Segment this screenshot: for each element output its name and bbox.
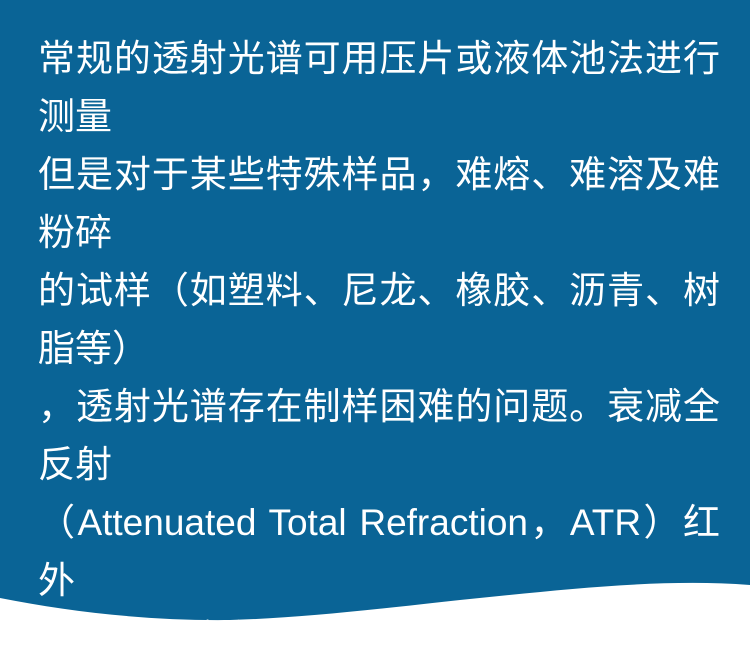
info-banner: 常规的透射光谱可用压片或液体池法进行测量 但是对于某些特殊样品，难熔、难溶及难粉… [0,0,750,667]
text-line-1-content: 常规的透射光谱可用压片或液体池法进行测量 [38,30,720,146]
text-line-4-content: ，透射光谱存在制样困难的问题。衰减全反射 [38,378,720,494]
text-line-3-content: 的试样（如塑料、尼龙、橡胶、沥青、树脂等） [38,262,720,378]
text-line-2: 但是对于某些特殊样品，难熔、难溶及难粉碎 [38,146,720,262]
text-line-1: 常规的透射光谱可用压片或液体池法进行测量 [38,30,720,146]
text-line-4: ，透射光谱存在制样困难的问题。衰减全反射 [38,378,720,494]
text-line-6: 附件可以完美的解决这些问题。它具有制样简 [38,610,720,667]
text-line-5-content: （Attenuated Total Refraction，ATR）红外 [38,494,720,610]
text-line-2-content: 但是对于某些特殊样品，难熔、难溶及难粉碎 [38,146,720,262]
paragraph-text: 常规的透射光谱可用压片或液体池法进行测量 但是对于某些特殊样品，难熔、难溶及难粉… [38,30,720,667]
text-line-5: （Attenuated Total Refraction，ATR）红外 [38,494,720,610]
text-line-6-content: 附件可以完美的解决这些问题。它具有制样简 [38,610,720,667]
text-line-3: 的试样（如塑料、尼龙、橡胶、沥青、树脂等） [38,262,720,378]
